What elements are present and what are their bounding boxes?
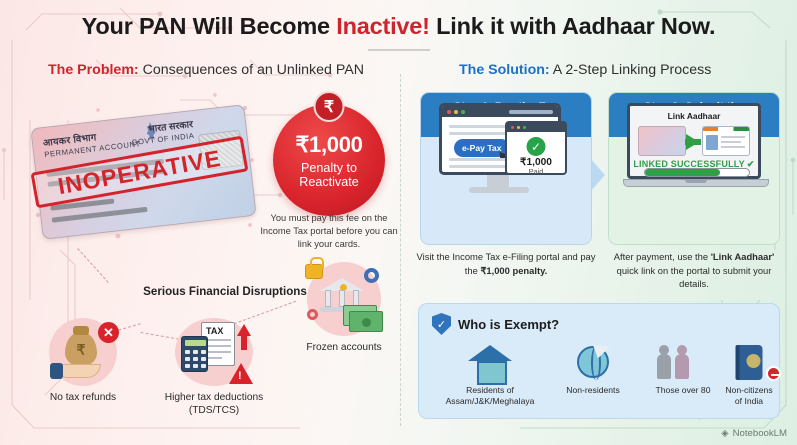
step-1-card: Step 1: Pay the Fee via 'e-Pay Tax' e-Pa… (420, 92, 592, 245)
poster-header: Your PAN Will Become Inactive! Link it w… (0, 14, 797, 51)
penalty-line1: Penalty to (273, 161, 385, 175)
laptop-illustration: Link Aadhaar LINKED SUCCESSFULLY ✔ (623, 103, 769, 197)
title-part1: Your PAN Will Become (82, 13, 337, 39)
step-2-body: Link Aadhaar LINKED SUCCESSFULLY ✔ (609, 137, 779, 245)
elderly-couple-icon (637, 343, 729, 381)
consequence-label-line2: (TDS/TCS) (189, 405, 239, 416)
step-2-card: Step 2: Submit the Linking Request Link … (608, 92, 780, 245)
laptop-notch (685, 179, 707, 183)
exempt-header: ✓ Who is Exempt? (432, 313, 559, 335)
hand-icon (53, 364, 101, 378)
calculator-icon (181, 336, 208, 372)
exempt-item-over-80: Those over 80 (637, 343, 729, 396)
arrow-right-icon (686, 134, 699, 150)
tax-doc-label: TAX (206, 326, 223, 336)
linked-check-icon: ✔ (747, 159, 755, 169)
title-part2: Link it with Aadhaar Now. (430, 13, 716, 39)
consequence-label: No tax refunds (28, 391, 138, 404)
browser-titlebar (442, 106, 558, 117)
popup-titlebar (507, 123, 565, 132)
title-highlight: Inactive! (336, 13, 430, 39)
consequence-no-tax-refunds: ₹ ✕ No tax refunds (28, 318, 138, 404)
arrow-up-icon (237, 324, 251, 336)
pan-card-thumb (638, 126, 686, 156)
pan-redacted-line (52, 207, 148, 223)
success-check-icon: ✓ (527, 137, 546, 156)
exempt-item-label: Those over 80 (637, 385, 729, 396)
consequence-frozen-accounts: Frozen accounts (288, 262, 400, 354)
exempt-item-non-residents: Non-residents (545, 343, 641, 396)
exempt-item-label: Non-residents (545, 385, 641, 396)
penalty-note: You must pay this fee on the Income Tax … (258, 212, 400, 252)
consequence-label: Frozen accounts (288, 341, 400, 354)
exempt-label-line1: Non-citizens (725, 385, 772, 395)
pan-card-illustration: आयकर विभाग PERMANENT ACCOUNT भारत सरकार … (18, 96, 268, 246)
notebooklm-watermark: ◈ NotebookLM (721, 428, 787, 439)
house-icon (431, 343, 549, 381)
money-bag-icon: ₹ (65, 332, 97, 366)
section-subheaders: The Problem: Consequences of an Unlinked… (0, 62, 797, 84)
exempt-title: Who is Exempt? (458, 317, 559, 332)
warning-triangle-icon (229, 363, 253, 384)
step-2-caption-part2: quick link on the portal to submit your … (617, 265, 772, 290)
connector-line (77, 248, 109, 283)
gear-icon (307, 309, 318, 320)
watermark-label: NotebookLM (733, 428, 787, 439)
monitor-foot (469, 187, 529, 193)
money-bag-denied-icon: ₹ ✕ (49, 318, 117, 386)
step-1-caption-bold: ₹1,000 penalty. (480, 265, 547, 276)
monitor-illustration: e-Pay Tax ✓ ₹1,000 Paid (439, 103, 575, 195)
step-connector-arrow (590, 158, 605, 192)
consequence-higher-tds: TAX Higher tax deductions (TDS/TCS) (148, 318, 280, 418)
exempt-label-line1: Residents of (466, 385, 514, 395)
gear-icon (364, 268, 379, 283)
globe-plane-icon (545, 343, 641, 381)
solution-label: The Solution: (459, 62, 550, 78)
passport-blocked-icon (719, 343, 779, 381)
step-2-caption-part1: After payment, use the (614, 251, 711, 262)
penalty-badge: ₹ ₹1,000 Penalty to Reactivate (273, 104, 385, 216)
exempt-item-label: Residents of Assam/J&K/Meghalaya (431, 385, 549, 408)
step-1-caption: Visit the Income Tax e-Filing portal and… (416, 250, 596, 277)
title-divider (368, 49, 430, 51)
bank-locked-icon (307, 262, 381, 336)
notebooklm-icon: ◈ (721, 428, 728, 439)
cross-icon: ✕ (98, 322, 119, 343)
page-title: Your PAN Will Become Inactive! Link it w… (0, 14, 797, 40)
solution-text: A 2-Step Linking Process (550, 62, 712, 78)
laptop-screen: Link Aadhaar LINKED SUCCESSFULLY ✔ (627, 103, 761, 179)
popup-status: Paid (507, 167, 565, 176)
step-2-caption: After payment, use the 'Link Aadhaar' qu… (604, 250, 784, 291)
cash-icon (349, 311, 383, 332)
link-aadhaar-title: Link Aadhaar (630, 111, 758, 121)
progress-bar-fill (645, 169, 720, 176)
step-2-caption-bold: 'Link Aadhaar' (711, 251, 775, 262)
section-divider (400, 74, 401, 426)
payment-confirmation-popup: ✓ ₹1,000 Paid (505, 121, 567, 175)
infographic-poster: Your PAN Will Become Inactive! Link it w… (0, 0, 797, 445)
problem-label: The Problem: (48, 62, 139, 78)
calculator-tax-rising-icon: TAX (175, 318, 253, 386)
solution-subheader: The Solution: A 2-Step Linking Process (459, 62, 711, 78)
problem-text: Consequences of an Unlinked PAN (139, 62, 364, 78)
exempt-label-line2: of India (735, 396, 763, 406)
lock-icon (305, 264, 323, 279)
step-1-body: e-Pay Tax ✓ ₹1,000 Paid (421, 137, 591, 245)
shield-check-icon: ✓ (432, 313, 451, 335)
exempt-item-label: Non-citizens of India (719, 385, 779, 408)
progress-bar (644, 168, 750, 177)
consequence-label: Higher tax deductions (TDS/TCS) (148, 391, 280, 418)
rupee-icon: ₹ (314, 91, 345, 122)
exempt-label-line2: Assam/J&K/Meghalaya (446, 396, 535, 406)
exempt-panel: ✓ Who is Exempt? Residents of Assam/J&K/… (418, 303, 780, 419)
no-entry-icon (766, 366, 781, 381)
monitor-stand (487, 175, 509, 187)
aadhaar-card-thumb (702, 126, 750, 156)
penalty-line2: Reactivate (273, 175, 385, 189)
exempt-item-residents: Residents of Assam/J&K/Meghalaya (431, 343, 549, 408)
penalty-amount: ₹1,000 (273, 132, 385, 158)
exempt-item-non-citizens: Non-citizens of India (719, 343, 779, 408)
problem-subheader: The Problem: Consequences of an Unlinked… (48, 62, 364, 78)
consequence-label-line1: Higher tax deductions (165, 392, 264, 403)
